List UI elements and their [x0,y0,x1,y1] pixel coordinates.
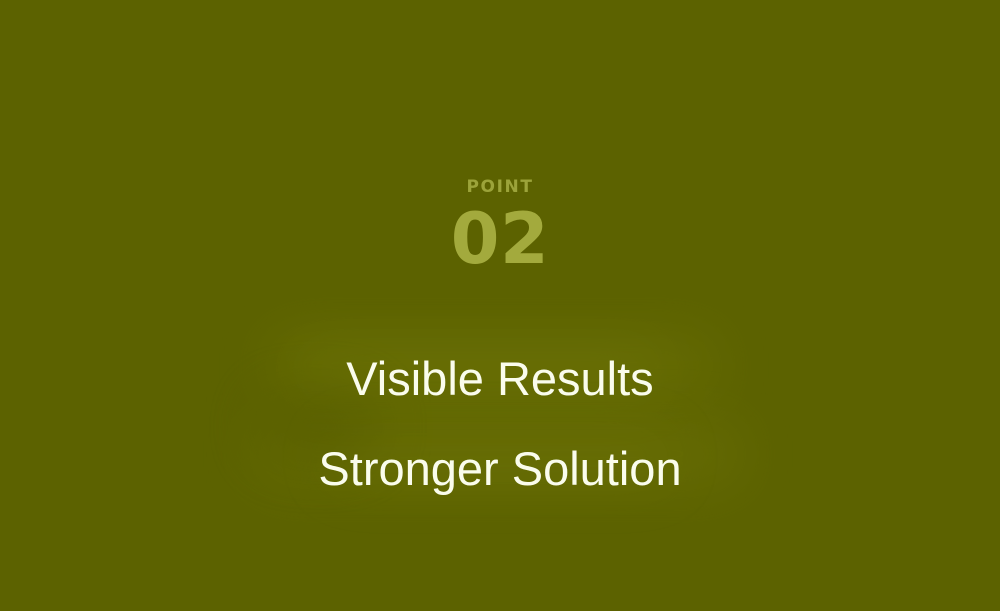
headline-block: Visible Results Stronger Solution [0,334,1000,514]
point-eyebrow-label: POINT [0,176,1000,198]
slide-canvas: POINT 02 Visible Results Stronger Soluti… [0,0,1000,611]
headline-line-2: Stronger Solution [0,424,1000,514]
headline-line-1: Visible Results [0,334,1000,424]
slide-content: POINT 02 Visible Results Stronger Soluti… [0,0,1000,611]
point-number: 02 [0,201,1000,277]
